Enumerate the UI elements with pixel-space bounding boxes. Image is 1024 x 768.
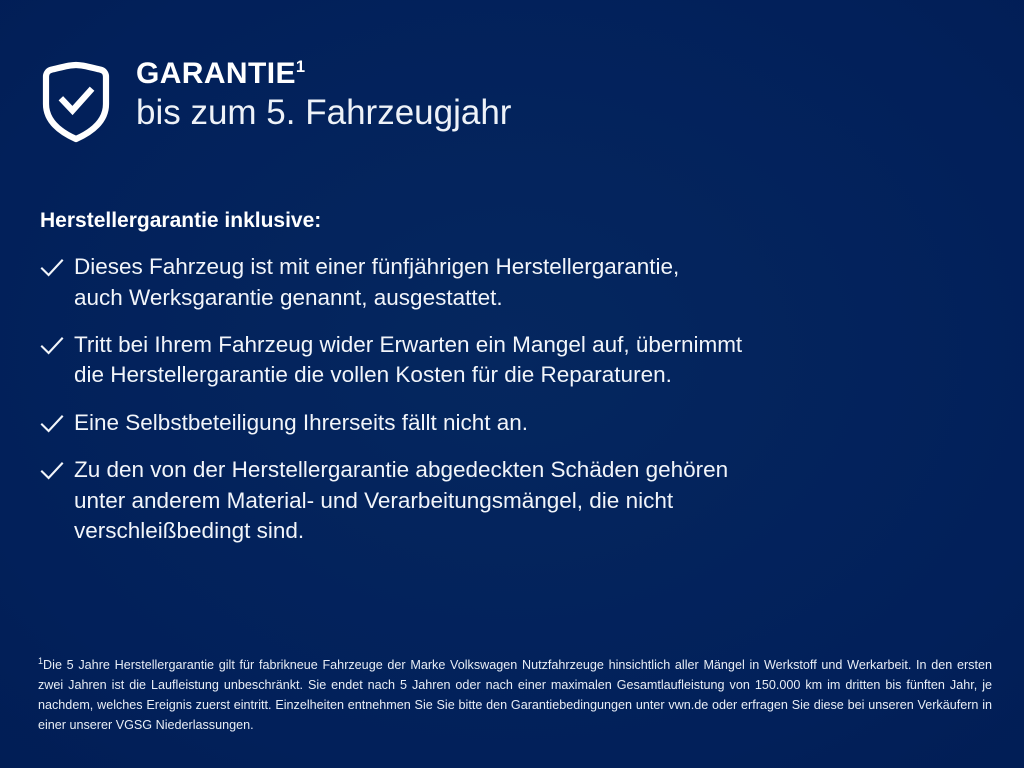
list-item-text: Dieses Fahrzeug ist mit einer fünfjährig… — [74, 252, 679, 313]
section-lead: Herstellergarantie inklusive: — [40, 208, 970, 234]
list-item: Tritt bei Ihrem Fahrzeug wider Erwarten … — [40, 330, 970, 391]
footnote: 1Die 5 Jahre Herstellergarantie gilt für… — [38, 655, 992, 736]
check-icon — [40, 252, 74, 278]
check-icon — [40, 408, 74, 434]
header-text: GARANTIE1 bis zum 5. Fahrzeugjahr — [136, 56, 511, 132]
list-item: Dieses Fahrzeug ist mit einer fünfjährig… — [40, 252, 970, 313]
list-item-text: Zu den von der Herstellergarantie abgede… — [74, 455, 728, 546]
list-item: Eine Selbstbeteiligung Ihrerseits fällt … — [40, 408, 970, 438]
shield-check-icon — [40, 56, 136, 144]
benefit-list: Dieses Fahrzeug ist mit einer fünfjährig… — [40, 252, 970, 546]
page-title: GARANTIE1 — [136, 58, 511, 89]
list-item-text: Eine Selbstbeteiligung Ihrerseits fällt … — [74, 408, 528, 438]
header: GARANTIE1 bis zum 5. Fahrzeugjahr — [40, 56, 511, 144]
content-block: Herstellergarantie inklusive: Dieses Fah… — [40, 208, 970, 546]
page-title-footnote-marker: 1 — [296, 58, 306, 76]
check-icon — [40, 330, 74, 356]
footnote-text: Die 5 Jahre Herstellergarantie gilt für … — [38, 658, 992, 732]
list-item: Zu den von der Herstellergarantie abgede… — [40, 455, 970, 546]
guarantee-slide: GARANTIE1 bis zum 5. Fahrzeugjahr Herste… — [0, 0, 1024, 768]
check-icon — [40, 455, 74, 481]
list-item-text: Tritt bei Ihrem Fahrzeug wider Erwarten … — [74, 330, 742, 391]
page-subtitle: bis zum 5. Fahrzeugjahr — [136, 93, 511, 132]
page-title-text: GARANTIE — [136, 57, 296, 90]
